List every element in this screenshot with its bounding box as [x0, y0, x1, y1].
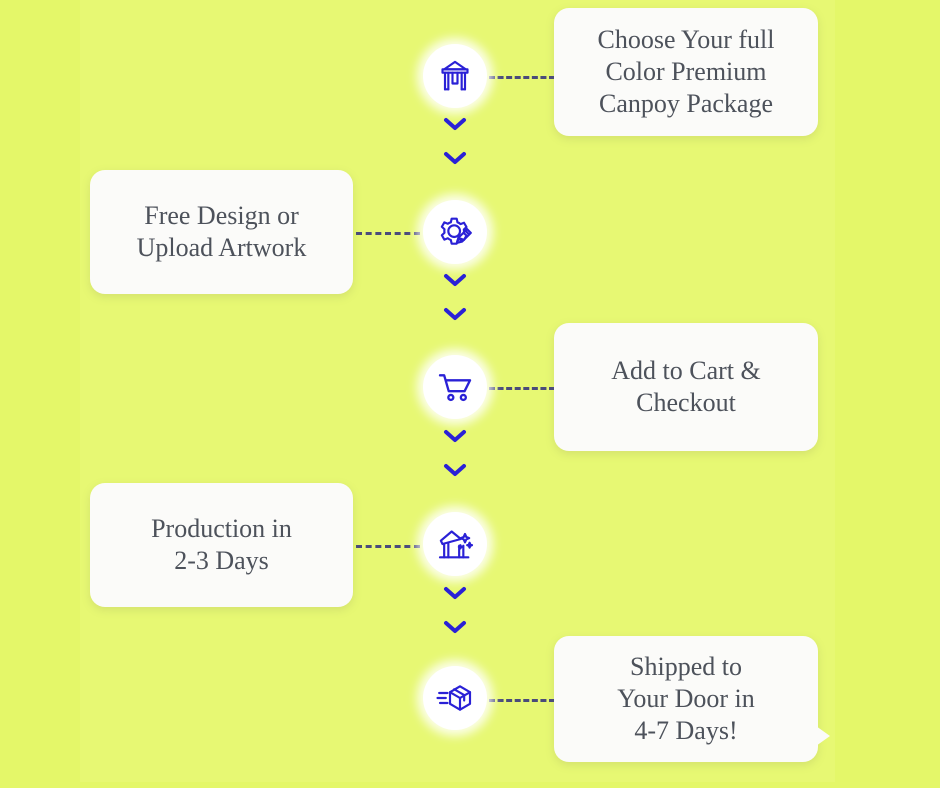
shopping-cart-icon	[435, 367, 475, 407]
step-1-card: Choose Your full Color Premium Canpoy Pa…	[554, 8, 818, 136]
step-2-icon-circle	[423, 200, 487, 264]
step-3-icon-circle	[423, 355, 487, 419]
chevron-down-icon	[442, 306, 468, 322]
step-4-card: Production in 2-3 Days	[90, 483, 353, 607]
chevron-down-icon	[442, 272, 468, 288]
gear-pencil-design-icon	[435, 212, 475, 252]
step-5-card: Shipped to Your Door in 4-7 Days!	[554, 636, 818, 762]
chevron-down-icon	[442, 585, 468, 601]
canopy-tent-icon	[435, 56, 475, 96]
step-1-icon-circle	[423, 44, 487, 108]
flow-arrows-1	[438, 116, 472, 166]
step-5-label: Shipped to Your Door in 4-7 Days!	[617, 651, 755, 746]
step-3-card: Add to Cart & Checkout	[554, 323, 818, 451]
flow-arrows-4	[438, 585, 472, 635]
flow-arrows-2	[438, 272, 472, 322]
step-3-label: Add to Cart & Checkout	[611, 355, 761, 418]
connector-step-3	[489, 387, 555, 390]
step-5-icon-circle	[423, 666, 487, 730]
chevron-down-icon	[442, 619, 468, 635]
chevron-down-icon	[442, 116, 468, 132]
chevron-down-icon	[442, 150, 468, 166]
connector-step-2	[356, 232, 420, 235]
connector-step-1	[489, 76, 555, 79]
chevron-down-icon	[442, 462, 468, 478]
chevron-down-icon	[442, 428, 468, 444]
process-flow-infographic: Choose Your full Color Premium Canpoy Pa…	[0, 0, 940, 788]
connector-step-4	[356, 545, 420, 548]
flow-arrows-3	[438, 428, 472, 478]
canopy-sparkle-production-icon	[435, 524, 475, 564]
step-4-icon-circle	[423, 512, 487, 576]
step-1-label: Choose Your full Color Premium Canpoy Pa…	[598, 24, 775, 119]
step-4-label: Production in 2-3 Days	[151, 513, 292, 576]
step-2-card: Free Design or Upload Artwork	[90, 170, 353, 294]
connector-step-5	[489, 699, 555, 702]
step-5-bubble-tail	[816, 726, 830, 746]
step-2-label: Free Design or Upload Artwork	[137, 200, 307, 263]
shipping-box-icon	[435, 678, 475, 718]
